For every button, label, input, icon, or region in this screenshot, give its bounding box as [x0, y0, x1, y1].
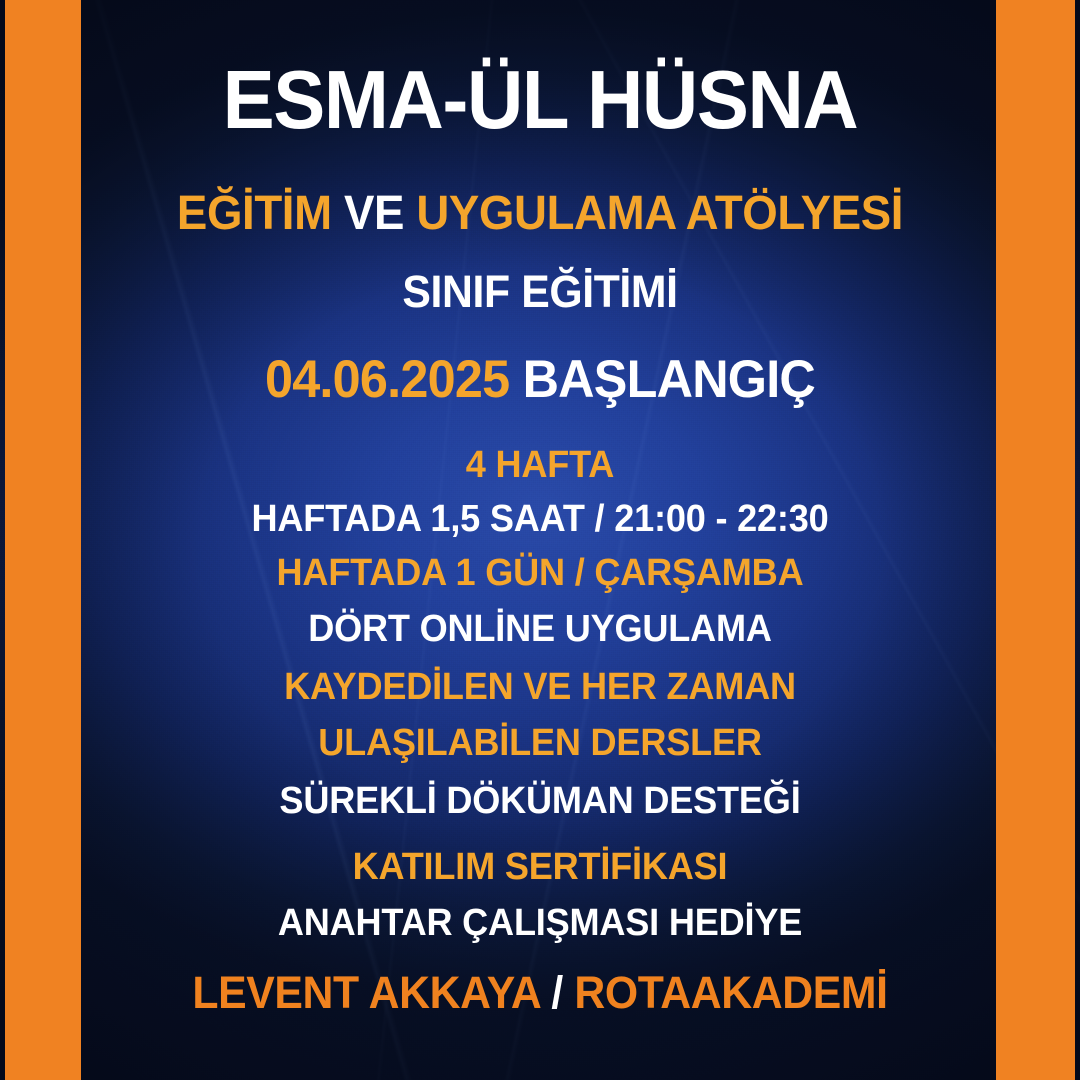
page-title: ESMA-ÜL HÜSNA: [111, 52, 968, 148]
detail-line: KATILIM SERTİFİKASI: [107, 846, 973, 889]
detail-line: ANAHTAR ÇALIŞMASI HEDİYE: [107, 902, 973, 945]
footer-instructor: LEVENT AKKAYA: [192, 967, 539, 1018]
footer-organization: ROTAAKADEMİ: [574, 967, 887, 1018]
detail-line: SÜREKLİ DÖKÜMAN DESTEĞİ: [107, 780, 973, 823]
detail-line: KAYDEDİLEN VE HER ZAMAN: [107, 666, 973, 709]
detail-line: 4 HAFTA: [107, 444, 973, 487]
subtitle-primary-part-a: EĞİTİM: [177, 187, 332, 240]
subtitle-primary: EĞİTİM VE UYGULAMA ATÖLYESİ: [107, 186, 973, 241]
left-orange-bar: [5, 0, 81, 1080]
detail-line: DÖRT ONLİNE UYGULAMA: [107, 608, 973, 651]
detail-line: HAFTADA 1,5 SAAT / 21:00 - 22:30: [107, 498, 973, 541]
subtitle-primary-part-b: VE: [332, 187, 417, 240]
detail-line: ULAŞILABİLEN DERSLER: [107, 722, 973, 765]
subtitle-secondary: SINIF EĞİTİMİ: [107, 266, 973, 318]
start-date-line: 04.06.2025 BAŞLANGIÇ: [107, 349, 973, 410]
right-orange-bar: [996, 0, 1075, 1080]
detail-line: HAFTADA 1 GÜN / ÇARŞAMBA: [107, 552, 973, 595]
footer-credits: LEVENT AKKAYA / ROTAAKADEMİ: [107, 967, 973, 1019]
footer-separator: /: [540, 967, 574, 1018]
subtitle-primary-part-c: UYGULAMA ATÖLYESİ: [416, 187, 903, 240]
start-date-label: BAŞLANGIÇ: [509, 350, 815, 409]
start-date-value: 04.06.2025: [265, 350, 509, 409]
poster-content: ESMA-ÜL HÜSNA EĞİTİM VE UYGULAMA ATÖLYES…: [84, 0, 996, 1080]
promo-poster: ESMA-ÜL HÜSNA EĞİTİM VE UYGULAMA ATÖLYES…: [0, 0, 1080, 1080]
